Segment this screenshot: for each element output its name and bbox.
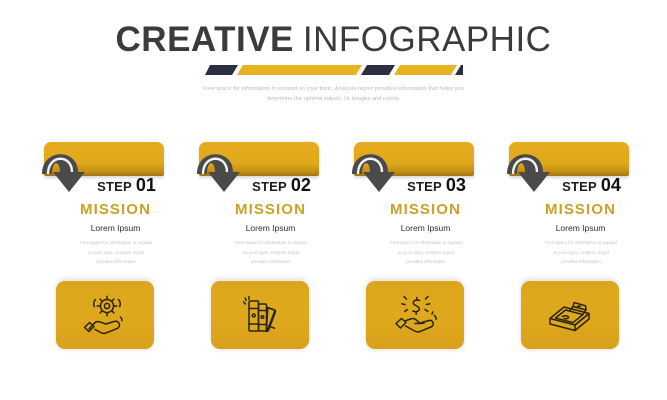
step-subheading-2: Lorem Ipsum <box>193 224 348 233</box>
step-body-line-1-3: provides information <box>62 257 170 267</box>
step-subheading-3: Lorem Ipsum <box>348 224 503 233</box>
step-word-1: STEP <box>97 179 132 194</box>
page-title: CREATIVEINFOGRAPHIC <box>0 22 667 57</box>
hand-gear-icon <box>81 293 129 337</box>
step-heading-4: MISSION <box>503 202 658 217</box>
step-body-line-1-1: Free space for information to expand <box>62 238 170 248</box>
step-body-4: Free space for information to expand on … <box>527 238 635 267</box>
books-icon <box>238 293 282 337</box>
step-body-line-4-2: on your topic, Analysis report <box>527 248 635 258</box>
step-icon-box-2[interactable] <box>211 281 309 349</box>
step-card-3[interactable]: STEP03 MISSION Lorem Ipsum Free space fo… <box>348 138 503 378</box>
header: CREATIVEINFOGRAPHIC Free space for infor… <box>0 0 667 120</box>
cash-stack-icon <box>544 294 596 336</box>
hand-dollar-icon <box>391 293 439 337</box>
step-icon-box-1[interactable] <box>56 281 154 349</box>
title-bold-part: CREATIVE <box>116 20 294 59</box>
step-icon-box-3[interactable] <box>366 281 464 349</box>
step-label-row-4: STEP04 <box>503 176 658 195</box>
decorative-band <box>205 62 463 78</box>
step-word-2: STEP <box>252 179 287 194</box>
step-word-4: STEP <box>562 179 597 194</box>
step-body-line-3-1: Free space for information to expand <box>372 238 480 248</box>
step-body-line-4-1: Free space for information to expand <box>527 238 635 248</box>
step-icon-box-4[interactable] <box>521 281 619 349</box>
step-body-line-3-2: on your topic, Analysis report <box>372 248 480 258</box>
step-card-4[interactable]: STEP04 MISSION Lorem Ipsum Free space fo… <box>503 138 658 378</box>
step-label-row-1: STEP01 <box>38 176 193 195</box>
step-heading-1: MISSION <box>38 202 193 217</box>
step-subheading-4: Lorem Ipsum <box>503 224 658 233</box>
step-word-3: STEP <box>407 179 442 194</box>
step-body-line-2-2: on your topic, Analysis report <box>217 248 325 258</box>
steps-container: STEP01 MISSION Lorem Ipsum Free space fo… <box>0 138 667 378</box>
step-number-2: 02 <box>291 175 311 195</box>
step-card-1[interactable]: STEP01 MISSION Lorem Ipsum Free space fo… <box>38 138 193 378</box>
step-heading-3: MISSION <box>348 202 503 217</box>
step-body-line-4-3: provides information <box>527 257 635 267</box>
step-body-line-3-3: provides information <box>372 257 480 267</box>
step-number-1: 01 <box>136 175 156 195</box>
step-body-line-2-1: Free space for information to expand <box>217 238 325 248</box>
subtitle: Free space for information to expand on … <box>0 84 667 105</box>
step-number-3: 03 <box>446 175 466 195</box>
step-body-line-1-2: on your topic, Analysis report <box>62 248 170 258</box>
step-label-row-2: STEP02 <box>193 176 348 195</box>
step-label-row-3: STEP03 <box>348 176 503 195</box>
step-subheading-1: Lorem Ipsum <box>38 224 193 233</box>
subtitle-line-1: Free space for information to expand on … <box>0 84 667 94</box>
step-body-3: Free space for information to expand on … <box>372 238 480 267</box>
step-heading-2: MISSION <box>193 202 348 217</box>
step-body-2: Free space for information to expand on … <box>217 238 325 267</box>
step-body-line-2-3: provides information <box>217 257 325 267</box>
title-light-part: INFOGRAPHIC <box>303 20 552 59</box>
step-number-4: 04 <box>601 175 621 195</box>
step-body-1: Free space for information to expand on … <box>62 238 170 267</box>
step-card-2[interactable]: STEP02 MISSION Lorem Ipsum Free space fo… <box>193 138 348 378</box>
subtitle-line-2: determine the optimal values. Or images … <box>0 94 667 104</box>
